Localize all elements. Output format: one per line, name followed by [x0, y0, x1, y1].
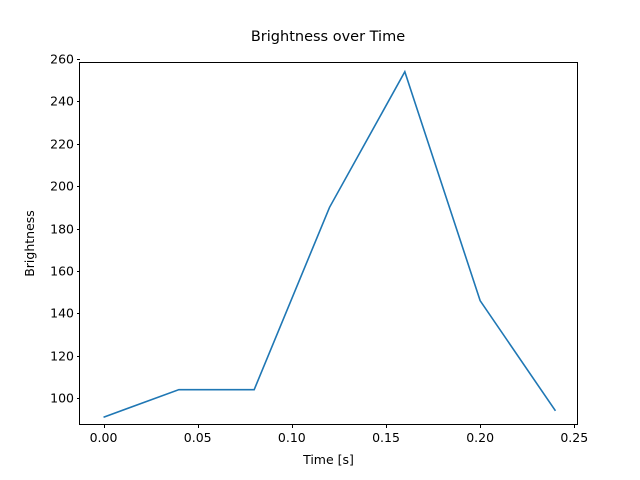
x-tick-label: 0.15	[372, 430, 400, 445]
x-tick-label: 0.25	[560, 430, 588, 445]
figure-canvas: Brightness over Time 1001201401601802002…	[0, 0, 640, 480]
x-tick-mark	[104, 424, 105, 428]
y-tick-mark	[77, 356, 81, 357]
y-tick-mark	[77, 313, 81, 314]
y-tick-label: 200	[50, 179, 74, 194]
x-tick-mark	[574, 424, 575, 428]
x-tick-mark	[292, 424, 293, 428]
x-tick-mark	[480, 424, 481, 428]
y-tick-mark	[77, 398, 81, 399]
y-tick-label: 180	[50, 221, 74, 236]
y-tick-label: 160	[50, 263, 74, 278]
x-tick-label: 0.05	[184, 430, 212, 445]
x-tick-mark	[198, 424, 199, 428]
y-tick-label: 260	[50, 52, 74, 67]
y-tick-label: 240	[50, 94, 74, 109]
y-axis-label: Brightness	[22, 62, 37, 425]
y-tick-mark	[77, 229, 81, 230]
y-tick-label: 120	[50, 348, 74, 363]
x-axis-label: Time [s]	[79, 452, 578, 467]
x-tick-label: 0.00	[90, 430, 118, 445]
y-tick-mark	[77, 59, 81, 60]
line-series-svg	[80, 63, 579, 426]
y-tick-mark	[77, 101, 81, 102]
chart-title: Brightness over Time	[78, 28, 578, 46]
y-tick-mark	[77, 271, 81, 272]
x-tick-mark	[386, 424, 387, 428]
y-tick-mark	[77, 186, 81, 187]
brightness-line	[104, 72, 556, 417]
x-tick-label: 0.20	[466, 430, 494, 445]
y-tick-label: 100	[50, 391, 74, 406]
plot-axes: 100120140160180200220240260 0.000.050.10…	[79, 62, 578, 425]
y-tick-mark	[77, 144, 81, 145]
y-tick-label: 220	[50, 136, 74, 151]
y-tick-label: 140	[50, 306, 74, 321]
x-tick-label: 0.10	[278, 430, 306, 445]
